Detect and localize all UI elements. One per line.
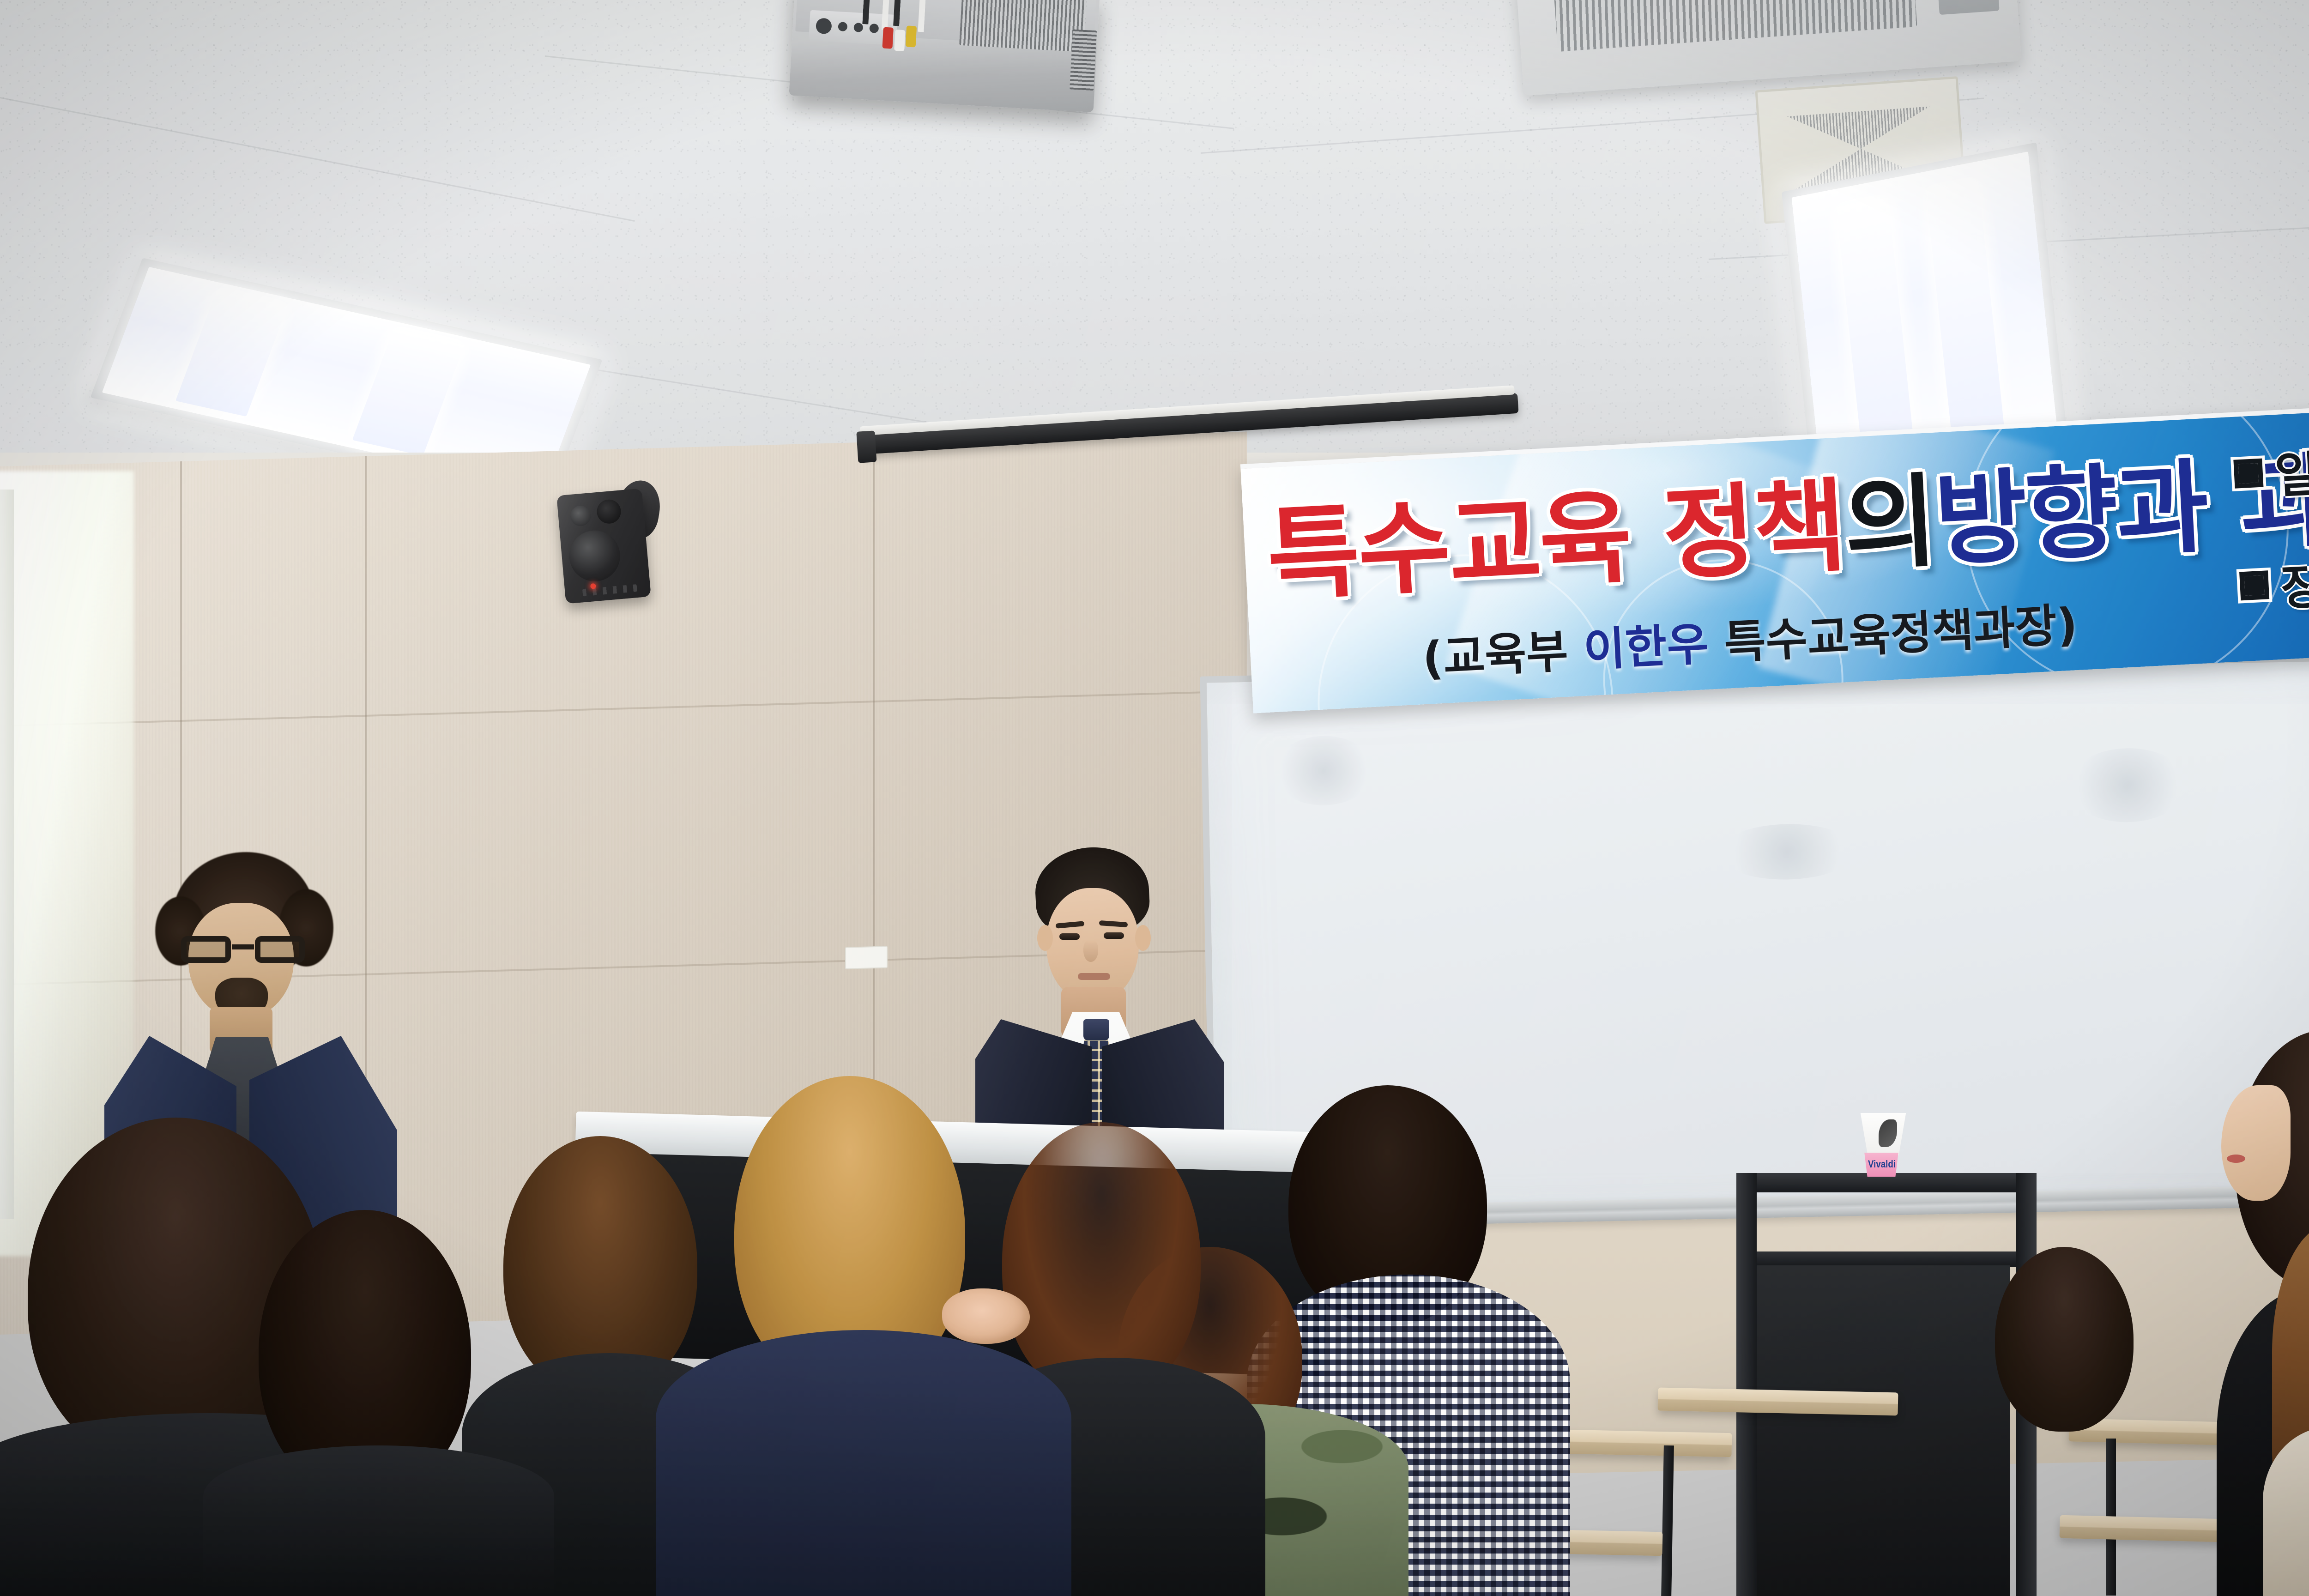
projector-port bbox=[816, 18, 832, 34]
lectern-panel bbox=[1752, 1265, 2010, 1596]
fluorescent-tube bbox=[1926, 180, 2006, 456]
wall-speaker bbox=[556, 488, 651, 604]
audience-head-8 bbox=[1995, 1247, 2134, 1432]
lectern: Vivaldi bbox=[1736, 1173, 2037, 1596]
ac-louver bbox=[1934, 0, 1999, 15]
banner-subtitle-name: 이한우 bbox=[1582, 618, 1710, 677]
fluorescent-tube bbox=[175, 290, 288, 417]
rca-connector-red bbox=[882, 27, 894, 49]
projector-side-vent bbox=[1070, 29, 1097, 91]
whiteboard-smudge bbox=[2067, 747, 2188, 823]
projector-port bbox=[853, 23, 863, 32]
whiteboard-smudge bbox=[1272, 735, 1375, 806]
ac-grill bbox=[1552, 0, 1917, 52]
paper-cup-brand-text: Vivaldi bbox=[1868, 1158, 1897, 1170]
wood-panel-seam bbox=[0, 690, 1247, 727]
projector-vent bbox=[959, 0, 1087, 52]
projector-port bbox=[838, 22, 847, 31]
banner-meta-row-datetime: 일시 bbox=[2232, 429, 2309, 508]
presenter-ear bbox=[1037, 925, 1053, 951]
audience-head-9 bbox=[2203, 1030, 2309, 1596]
glasses-bridge bbox=[232, 944, 254, 949]
audience-hair bbox=[1995, 1247, 2134, 1432]
clasped-hands bbox=[942, 1288, 1030, 1344]
banner-meta-row-location: 장소 bbox=[2238, 541, 2309, 621]
glasses-lens-right bbox=[255, 936, 305, 963]
rca-connector-yellow bbox=[906, 25, 917, 47]
lectern-crossbar bbox=[1750, 1251, 2026, 1267]
banner-meta-label-datetime: 일시 bbox=[2273, 432, 2309, 507]
wall-sticker bbox=[845, 946, 888, 969]
paper-cup-label: Vivaldi bbox=[1863, 1153, 1900, 1177]
banner-meta-list: 일시 장소 bbox=[2232, 429, 2309, 663]
fluorescent-tube bbox=[352, 329, 465, 456]
projector-port bbox=[869, 24, 879, 33]
screen-roller-cap bbox=[856, 430, 876, 463]
presenter-eye bbox=[1104, 932, 1124, 939]
paper-cup: Vivaldi bbox=[1857, 1113, 1909, 1183]
ceiling-projector bbox=[789, 0, 1100, 112]
audience-lips bbox=[2227, 1155, 2245, 1163]
audience-shoulders-navy-knit bbox=[656, 1330, 1071, 1596]
banner-meta-label-location: 장소 bbox=[2279, 544, 2309, 619]
audience-face-profile bbox=[2221, 1085, 2291, 1201]
presenter-eye bbox=[1059, 933, 1080, 940]
window-frame bbox=[0, 490, 14, 1219]
glasses-lens-left bbox=[181, 936, 231, 963]
checkbox-filled-icon bbox=[2239, 570, 2269, 600]
presenter-tie-knot bbox=[1083, 1019, 1109, 1040]
lecture-hall-photo: 특수교육 정책의방향과 과제 (교육부 이한우 특수교육정책과장) 일시 장소 … bbox=[0, 0, 2309, 1596]
paper-cup-logo bbox=[1879, 1119, 1897, 1147]
glasses-icon bbox=[181, 936, 305, 964]
banner-subtitle-part-1: (교육부 bbox=[1421, 624, 1585, 685]
presenter-ear bbox=[1135, 925, 1151, 951]
rca-connector-white bbox=[894, 30, 906, 51]
checkbox-filled-icon bbox=[2233, 458, 2263, 488]
presenter-nose bbox=[1083, 940, 1098, 962]
presenter-mouth bbox=[1078, 973, 1110, 980]
audience-shoulders-2 bbox=[203, 1445, 554, 1596]
lectern-frame-left bbox=[1736, 1173, 1757, 1596]
banner-headline-part-black: 의 bbox=[1841, 463, 1938, 585]
student-desk-leg bbox=[1661, 1445, 1674, 1596]
paper-cup-body bbox=[1857, 1113, 1909, 1155]
whiteboard-smudge bbox=[1717, 823, 1857, 881]
